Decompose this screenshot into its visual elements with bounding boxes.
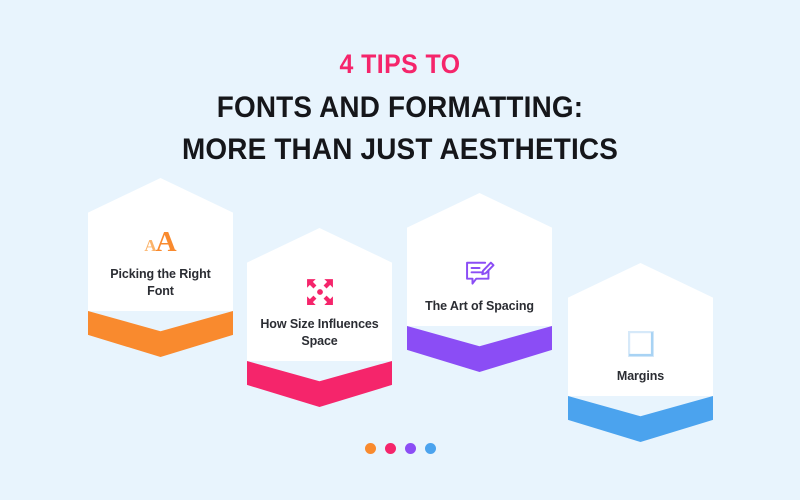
hexagon-body: AA Picking the Right Font [88,178,233,311]
pagination-dot-1[interactable] [365,443,376,454]
infographic-canvas: 4 TIPS TO FONTS AND FORMATTING: MORE THA… [0,0,800,500]
icon-slot: AA [144,225,176,259]
hexagon-body: The Art of Spacing [407,193,552,326]
icon-slot [464,257,496,291]
icon-slot [305,275,335,309]
tip-card-label: How Size Influences Space [258,316,382,349]
hexagon-chevron [247,361,392,407]
tip-card-margins[interactable]: Margins [568,263,713,442]
tip-card-label: Margins [579,368,703,385]
title-line-2: MORE THAN JUST AESTHETICS [28,129,772,170]
title-line-1: FONTS AND FORMATTING: [28,87,772,128]
page-title: FONTS AND FORMATTING: MORE THAN JUST AES… [28,87,772,170]
title-block: 4 TIPS TO FONTS AND FORMATTING: MORE THA… [0,50,800,170]
typography-aa-icon: AA [144,228,176,257]
hexagon-chevron [407,326,552,372]
eyebrow-text: 4 TIPS TO [32,50,768,78]
pagination-dots [0,443,800,454]
pagination-dot-3[interactable] [405,443,416,454]
hexagon-chevron [88,311,233,357]
tip-card-the-art-of-spacing[interactable]: The Art of Spacing [407,193,552,372]
tip-card-picking-the-right-font[interactable]: AA Picking the Right Font [88,178,233,357]
comment-edit-icon [464,259,496,289]
hexagon-body: Margins [568,263,713,396]
pagination-dot-4[interactable] [425,443,436,454]
pagination-dot-2[interactable] [385,443,396,454]
tip-card-label: Picking the Right Font [99,266,223,299]
hexagon-chevron [568,396,713,442]
tip-card-how-size-influences-space[interactable]: How Size Influences Space [247,228,392,407]
hexagon-body: How Size Influences Space [247,228,392,361]
expand-arrows-icon [305,277,335,307]
icon-slot [628,327,654,361]
aa-icon-large-a: A [156,228,177,257]
margin-square-icon [628,331,654,357]
tip-card-label: The Art of Spacing [418,298,542,315]
